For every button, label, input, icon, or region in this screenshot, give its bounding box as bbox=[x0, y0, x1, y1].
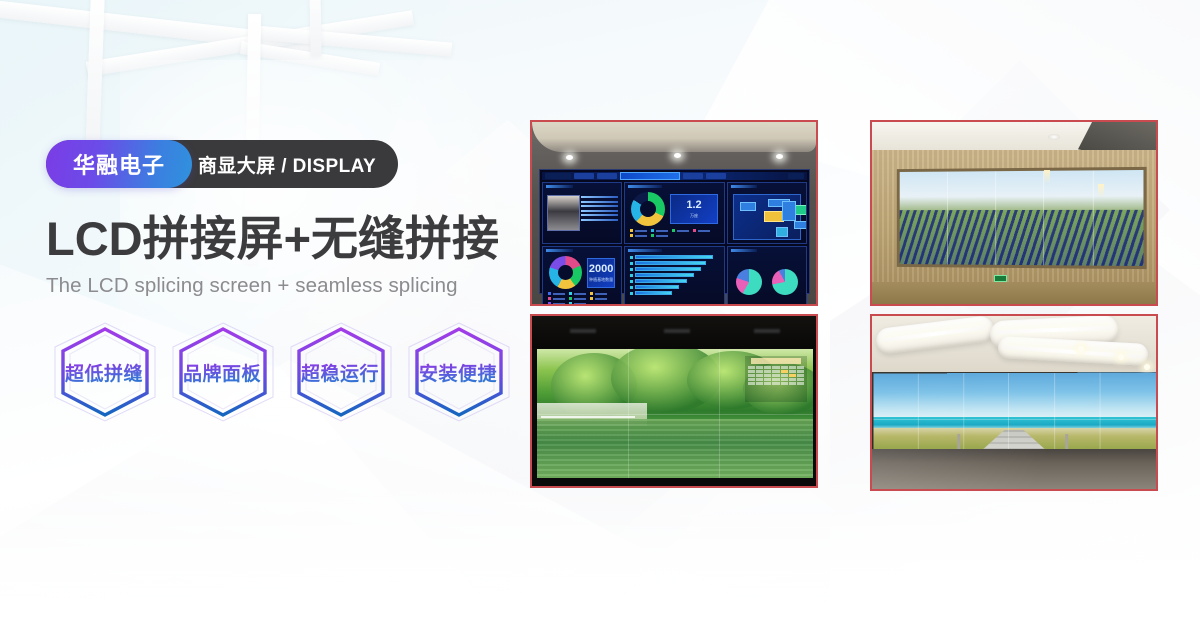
ceiling-spotlight-icon bbox=[674, 153, 681, 158]
flow-node bbox=[776, 227, 788, 237]
flow-node bbox=[782, 201, 796, 221]
ceiling-beam bbox=[240, 41, 380, 76]
chart-legend bbox=[546, 292, 618, 305]
flow-node bbox=[740, 202, 756, 211]
bar-row bbox=[630, 291, 718, 295]
brand-label: 华融电子 bbox=[73, 148, 165, 180]
bar-row bbox=[630, 261, 718, 265]
dashboard-room: 1.2 万座 bbox=[532, 122, 816, 304]
pie-chart bbox=[736, 269, 762, 295]
ceiling-cove bbox=[532, 122, 816, 152]
metric-unit: 种植基地数量 bbox=[589, 277, 613, 283]
donut-chart bbox=[549, 256, 582, 289]
panel-seam bbox=[947, 172, 948, 265]
panel-seam bbox=[995, 171, 996, 265]
dashboard-panel-intro bbox=[542, 182, 622, 244]
legend-entry bbox=[651, 229, 668, 232]
category-label: 商显大屏 / DISPLAY bbox=[198, 151, 376, 178]
nav-chip bbox=[574, 173, 594, 179]
metric-tile: 1.2 万座 bbox=[670, 194, 717, 224]
pie-chart-group bbox=[731, 254, 803, 305]
ceiling-spotlight-icon bbox=[776, 154, 783, 159]
metric-unit: 万座 bbox=[690, 213, 698, 219]
chart-legend bbox=[628, 229, 720, 237]
feature-label: 品牌面板 bbox=[183, 359, 261, 386]
ceiling-beam bbox=[86, 10, 414, 76]
screen-sky bbox=[874, 372, 1158, 419]
metric-value: 1.2 bbox=[686, 199, 701, 211]
ceiling-spotlight-icon bbox=[1078, 346, 1084, 352]
exit-sign-icon bbox=[994, 275, 1007, 282]
ceiling-spotlight-icon bbox=[1144, 364, 1150, 370]
brand-pill-row: 商显大屏 / DISPLAY 华融电子 bbox=[46, 140, 516, 188]
wall-lamp-glow bbox=[1098, 184, 1104, 198]
legend-entry bbox=[548, 302, 565, 305]
video-wall-screen: 1.2 万座 bbox=[539, 169, 810, 294]
legend-entry bbox=[651, 234, 668, 237]
panel-seam bbox=[537, 414, 813, 415]
calendar-grid bbox=[745, 366, 807, 385]
legend-entry bbox=[569, 297, 586, 300]
dashboard-panel-water-stats: 1.2 万座 bbox=[624, 182, 724, 244]
legend-entry bbox=[590, 297, 607, 300]
ceiling-beam bbox=[252, 25, 452, 56]
photo-lcd-video-wall-solar-farm[interactable] bbox=[870, 120, 1158, 306]
panel-thumbnail bbox=[547, 195, 580, 231]
metric-value: 2000 bbox=[589, 263, 613, 275]
bar-row bbox=[630, 273, 718, 277]
screen-sky bbox=[900, 170, 1144, 212]
video-wall-frame bbox=[897, 167, 1147, 269]
legend-entry bbox=[569, 302, 586, 305]
feature-label: 安装便捷 bbox=[419, 359, 497, 386]
feature-hexagon-0[interactable]: 超低拼缝 bbox=[46, 320, 162, 424]
dashboard-panel-area-share: 2000 种植基地数量 bbox=[542, 246, 622, 306]
legend-entry bbox=[590, 292, 607, 295]
legend-entry bbox=[630, 234, 647, 237]
ceiling-spotlight-icon bbox=[1118, 354, 1124, 360]
panel-text-lines bbox=[581, 196, 619, 223]
dashboard-panel-pie-pair bbox=[727, 246, 807, 306]
feature-label: 超低拼缝 bbox=[65, 359, 143, 386]
video-wall-screen bbox=[900, 170, 1144, 266]
ceiling-spotlight-icon bbox=[566, 155, 573, 160]
legend-entry bbox=[548, 297, 565, 300]
floor bbox=[872, 282, 1156, 304]
panel-seam bbox=[874, 419, 1158, 420]
dashboard-panel-flow-diagram bbox=[727, 182, 807, 244]
bar-row bbox=[630, 267, 718, 271]
floor bbox=[872, 449, 1156, 489]
dashboard-title-chip bbox=[620, 172, 680, 180]
banner-text-column: 商显大屏 / DISPLAY 华融电子 LCD拼接屏+无缝拼接 The LCD … bbox=[46, 140, 516, 424]
legend-entry bbox=[548, 292, 565, 295]
ceiling-beam bbox=[0, 0, 320, 54]
bar-chart bbox=[628, 254, 720, 295]
page-subtitle: The LCD splicing screen + seamless splic… bbox=[46, 274, 516, 298]
bg-bottom-fade bbox=[0, 470, 1200, 640]
nav-chip bbox=[788, 173, 804, 179]
nav-chip bbox=[706, 173, 726, 179]
flow-node bbox=[794, 221, 807, 229]
legend-entry bbox=[630, 229, 647, 232]
beach-room bbox=[872, 316, 1156, 489]
ceiling-spotlight-icon bbox=[1048, 134, 1060, 140]
feature-hexagon-1[interactable]: 品牌面板 bbox=[164, 320, 280, 424]
panel-seam bbox=[1093, 170, 1094, 265]
calendar-title bbox=[751, 358, 801, 364]
screen-solar-panel-field bbox=[900, 210, 1144, 266]
metric-tile: 2000 种植基地数量 bbox=[587, 258, 615, 288]
bar-row bbox=[630, 285, 718, 289]
flow-node bbox=[764, 211, 784, 222]
product-banner: 商显大屏 / DISPLAY 华融电子 LCD拼接屏+无缝拼接 The LCD … bbox=[0, 0, 1200, 640]
legend-entry bbox=[693, 229, 710, 232]
video-wall-screen bbox=[537, 349, 813, 478]
ceiling-beam bbox=[309, 0, 321, 56]
dashboard-panel-grid: 1.2 万座 bbox=[542, 182, 807, 306]
feature-hexagon-3[interactable]: 安装便捷 bbox=[400, 320, 516, 424]
legend-entry bbox=[569, 292, 586, 295]
donut-chart bbox=[631, 192, 665, 226]
feature-hexagon-2[interactable]: 超稳运行 bbox=[282, 320, 398, 424]
feature-hexagon-list: 超低拼缝 品牌面板 超稳运行 bbox=[46, 320, 516, 424]
flow-diagram bbox=[733, 194, 801, 240]
ceiling-beam bbox=[85, 0, 105, 160]
lake-room bbox=[532, 316, 816, 486]
solar-room bbox=[872, 122, 1156, 304]
nav-chip bbox=[597, 173, 617, 179]
dashboard-panel-bar-list bbox=[624, 246, 724, 306]
photo-lcd-video-wall-lake-scenery[interactable] bbox=[530, 314, 818, 488]
legend-entry bbox=[672, 229, 689, 232]
dashboard-top-bar bbox=[542, 172, 807, 180]
wall-above-screen bbox=[532, 316, 816, 348]
page-title: LCD拼接屏+无缝拼接 bbox=[46, 214, 516, 263]
lake-water bbox=[537, 419, 813, 478]
nav-chip bbox=[683, 173, 703, 179]
photo-lcd-video-wall-beach-boardwalk[interactable] bbox=[870, 314, 1158, 491]
bar-row bbox=[630, 255, 718, 259]
brand-badge: 华融电子 bbox=[46, 140, 192, 188]
calendar-overlay bbox=[745, 356, 807, 402]
pie-chart bbox=[772, 269, 798, 295]
feature-label: 超稳运行 bbox=[301, 359, 379, 386]
photo-lcd-video-wall-data-dashboard[interactable]: 1.2 万座 bbox=[530, 120, 818, 306]
wall-lamp-glow bbox=[1044, 170, 1050, 184]
panel-seam bbox=[1043, 171, 1044, 265]
bar-row bbox=[630, 279, 718, 283]
timestamp-chip bbox=[545, 173, 571, 179]
